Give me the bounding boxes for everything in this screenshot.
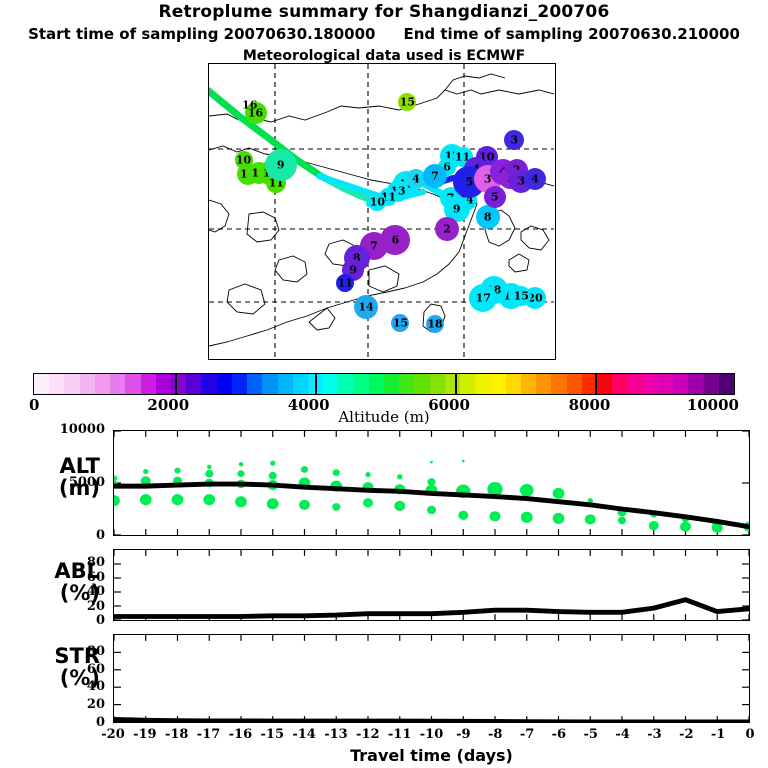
x-tick-label: -3 [647,727,661,742]
alt-scatter-point [618,517,626,525]
map-marker-label: 14 [358,300,373,313]
colorbar-swatch [384,374,399,394]
alt-scatter-point [239,462,244,466]
colorbar-swatch [156,374,171,394]
map-marker-label: 3 [510,134,518,147]
colorbar-swatch [141,374,156,394]
colorbar-swatch [278,374,293,394]
x-tick-label: -2 [679,727,693,742]
end-time-label: End time of sampling 20070630.210000 [404,25,740,43]
met-data-label: Meteorological data used is ECMWF [0,48,768,64]
colorbar-swatch [49,374,64,394]
colorbar-swatch [217,374,232,394]
alt-scatter-point [458,511,468,520]
alt-scatter-point [553,513,565,524]
alt-scatter-point [114,475,117,481]
alt-scatter-point [553,488,565,499]
alt-scatter-point [299,500,310,510]
x-tick-label: -15 [261,727,285,742]
map-marker-label: 5 [466,175,474,188]
colorbar-swatch [612,374,627,394]
alt-scatter-point [427,478,435,486]
colorbar-divider [315,373,317,395]
colorbar-swatch [551,374,566,394]
alt-scatter-point [172,494,184,505]
page-title: Retroplume summary for Shangdianzi_20070… [0,2,768,22]
alt-scatter-point [397,474,402,479]
alt-scatter-point [237,470,244,477]
colorbar-divider [455,373,457,395]
alt-scatter-point [235,496,247,507]
alt-scatter-point [585,514,596,524]
colorbar-swatch [232,374,247,394]
x-tick-label: -7 [520,727,534,742]
colorbar-swatch [673,374,688,394]
sampling-time-line: Start time of sampling 20070630.180000En… [0,25,768,43]
alt-scatter-point [394,501,405,511]
alt-scatter-point [680,522,691,532]
map-marker-label: 2 [443,222,451,235]
y-tick-label: 0 [0,528,105,543]
map-marker-label: 4 [531,173,539,186]
map-marker-label: 16 [242,98,257,111]
colorbar-swatch [430,374,445,394]
map-marker-label: 17 [476,291,491,304]
x-tick-label: -6 [552,727,566,742]
colorbar-divider [595,373,597,395]
x-axis-title: Travel time (days) [113,746,750,765]
map-marker-label: 18 [427,318,442,331]
colorbar-swatch [293,374,308,394]
abl-chart[interactable] [113,549,750,621]
colorbar-divider [175,373,177,395]
start-time-label: Start time of sampling 20070630.180000 [28,25,375,43]
colorbar-swatch [506,374,521,394]
alt-scatter-point [490,511,501,521]
map-marker-label: 15 [393,316,408,329]
colorbar-swatch [110,374,125,394]
alt-scatter-point [270,461,275,466]
y-tick-label: 10000 [0,422,105,437]
y-tick-label: 80 [0,555,105,570]
colorbar-swatch [95,374,110,394]
colorbar-swatch [186,374,201,394]
colorbar-swatch [719,374,734,394]
altitude-colorbar [33,373,735,395]
alt-scatter-point [114,495,120,506]
map-marker-label: 10 [236,153,251,166]
alt-scatter-point [140,494,152,505]
y-tick-label: 40 [0,679,105,694]
x-tick-label: -17 [197,727,221,742]
alt-scatter-point [333,469,340,476]
alt-scatter-point [143,469,148,474]
map-marker-label: 9 [349,263,357,276]
colorbar-swatch [536,374,551,394]
alt-scatter-point [521,512,533,523]
colorbar-swatch [414,374,429,394]
colorbar-swatch [704,374,719,394]
colorbar-swatch [460,374,475,394]
map-marker-label: 15 [400,95,415,108]
map-marker-label: 7 [431,170,439,183]
map-marker-label: 8 [484,210,492,223]
colorbar-swatch [262,374,277,394]
colorbar-swatch [628,374,643,394]
colorbar-gradient [34,374,734,394]
alt-scatter-point [174,468,180,474]
x-tick-label: -1 [711,727,725,742]
colorbar-swatch [445,374,460,394]
map-marker-label: 10 [370,195,385,208]
x-tick-label: -4 [615,727,629,742]
alt-scatter-point [205,470,213,478]
alt-scatter-point [301,466,308,473]
x-tick-label: -12 [356,727,380,742]
y-tick-label: 80 [0,644,105,659]
alt-scatter-point [427,506,436,514]
abl-plot-area [114,550,749,620]
colorbar-swatch [491,374,506,394]
alt-scatter-point [462,460,465,463]
alt-scatter-point [430,461,433,464]
y-tick-label: 60 [0,662,105,677]
x-tick-label: -20 [101,727,125,742]
y-tick-label: 20 [0,697,105,712]
colorbar-swatch [80,374,95,394]
colorbar-swatch [369,374,384,394]
y-tick-label: 0 [0,715,105,730]
x-tick-label: -19 [133,727,157,742]
alt-scatter-point [269,472,277,480]
colorbar-swatch [658,374,673,394]
map-marker-label: 4 [412,172,420,185]
retroplume-map[interactable]: 2019181817161615151414131211109151479812… [208,63,556,360]
series-line [114,600,749,617]
alt-chart[interactable] [113,430,750,536]
x-tick-label: -11 [388,727,412,742]
map-marker-label: 9 [277,159,285,172]
colorbar-swatch [521,374,536,394]
map-marker-label: 6 [391,234,399,247]
alt-scatter-point [203,494,215,505]
colorbar-swatch [201,374,216,394]
y-tick-label: 5000 [0,475,105,490]
series-line [114,719,749,722]
str-chart[interactable] [113,634,750,723]
colorbar-swatch [171,374,186,394]
y-tick-label: 40 [0,584,105,599]
alt-scatter-point [649,521,659,530]
alt-scatter-point [520,484,534,497]
colorbar-swatch [597,374,612,394]
str-plot-area [114,635,749,722]
alt-scatter-point [365,472,370,477]
map-marker-label: 15 [514,290,529,303]
x-tick-label: -14 [292,727,316,742]
x-tick-label: -13 [324,727,348,742]
alt-plot-area [114,431,749,535]
colorbar-swatch [247,374,262,394]
x-tick-label: -8 [488,727,502,742]
map-marker-label: 11 [338,277,353,290]
alt-scatter-point [332,503,340,511]
x-tick-label: -9 [456,727,470,742]
map-marker-label: 7 [370,240,378,253]
x-tick-label: -18 [165,727,189,742]
colorbar-swatch [338,374,353,394]
x-tick-label: -5 [584,727,598,742]
colorbar-swatch [475,374,490,394]
colorbar-swatch [688,374,703,394]
map-marker-label: 5 [491,190,499,203]
colorbar-swatch [399,374,414,394]
colorbar-swatch [34,374,49,394]
map-marker-label: 9 [453,202,461,215]
colorbar-title: Altitude (m) [0,408,768,426]
y-tick-label: 0 [0,613,105,628]
y-tick-label: 20 [0,599,105,614]
x-tick-label: -10 [420,727,444,742]
colorbar-swatch [125,374,140,394]
alt-scatter-point [363,498,373,507]
colorbar-swatch [567,374,582,394]
x-tick-label: 0 [745,727,754,742]
alt-scatter-point [207,465,212,469]
colorbar-swatch [323,374,338,394]
x-tick-label: -16 [229,727,253,742]
y-tick-label: 60 [0,570,105,585]
alt-scatter-point [267,498,279,509]
colorbar-swatch [354,374,369,394]
colorbar-swatch [643,374,658,394]
colorbar-swatch [64,374,79,394]
